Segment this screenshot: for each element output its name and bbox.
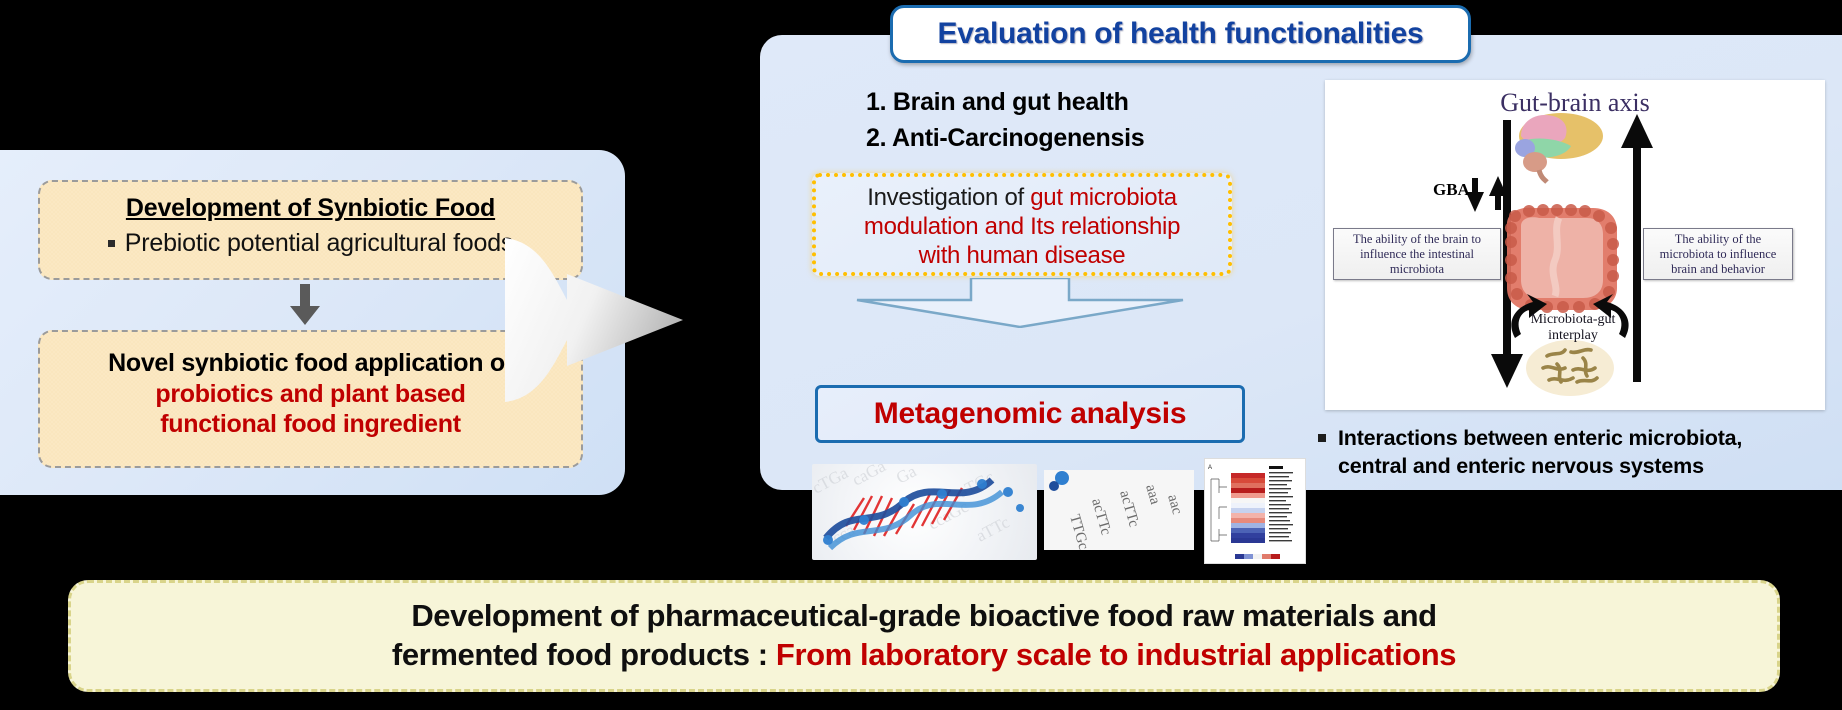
investigation-line-2: modulation and Its relationship bbox=[816, 213, 1228, 242]
investigation-line-3: with human disease bbox=[816, 242, 1228, 271]
metagenomic-analysis-label: Metagenomic analysis bbox=[874, 397, 1186, 431]
banner-line-2-prefix: fermented food products : bbox=[392, 637, 776, 672]
down-arrow-icon bbox=[289, 284, 321, 326]
banner-line-2: fermented food products : From laborator… bbox=[392, 636, 1456, 675]
page-title: Evaluation of health functionalities bbox=[938, 17, 1424, 51]
investigation-line-1-highlight: gut microbiota bbox=[1030, 184, 1177, 211]
dna-sequence-thumbnail: acTTc acTTc aaa TTGc aac bbox=[1044, 470, 1194, 550]
svg-text:caGa: caGa bbox=[849, 464, 889, 490]
square-bullet-icon bbox=[108, 240, 115, 247]
investigation-line-1-prefix: Investigation of bbox=[867, 184, 1030, 211]
metagenomic-analysis-box: Metagenomic analysis bbox=[815, 385, 1245, 443]
gba-caption-left: The ability of the brain to influence th… bbox=[1333, 228, 1501, 280]
bottom-banner: Development of pharmaceutical-grade bioa… bbox=[68, 580, 1780, 692]
novel-box-line-2: probiotics and plant based bbox=[40, 379, 581, 410]
novel-box-line-3: functional food ingredient bbox=[40, 409, 581, 440]
enteric-line-2: central and enteric nervous systems bbox=[1338, 454, 1704, 478]
numbered-item-2: 2. Anti-Carcinogenensis bbox=[866, 124, 1144, 153]
svg-text:A: A bbox=[1208, 465, 1212, 471]
enteric-interactions-bullet: Interactions between enteric microbiota,… bbox=[1318, 425, 1828, 480]
dna-helix-thumbnail: cTGa caGa Ga ccaGc aTGc cca aTTc bbox=[812, 464, 1037, 560]
intestine-icon bbox=[1505, 204, 1619, 313]
development-of-synbiotic-food-box: Development of Synbiotic Food Prebiotic … bbox=[38, 180, 583, 280]
development-box-title: Development of Synbiotic Food bbox=[40, 194, 581, 223]
novel-synbiotic-food-box: Novel synbiotic food application of prob… bbox=[38, 330, 583, 468]
banner-line-1: Development of pharmaceutical-grade bioa… bbox=[411, 597, 1436, 636]
brain-icon bbox=[1515, 113, 1603, 182]
enteric-interactions-text: Interactions between enteric microbiota,… bbox=[1338, 425, 1742, 480]
enteric-line-1: Interactions between enteric microbiota, bbox=[1338, 426, 1742, 450]
microbiota-gut-interplay-label: Microbiota-gut interplay bbox=[1521, 312, 1625, 343]
right-chevron-arrow-icon bbox=[505, 230, 685, 410]
investigation-box: Investigation of gut microbiota modulati… bbox=[812, 173, 1232, 276]
development-box-bullet-row: Prebiotic potential agricultural foods bbox=[40, 229, 581, 258]
novel-box-line-1: Novel synbiotic food application of bbox=[40, 348, 581, 379]
investigation-line-1: Investigation of gut microbiota bbox=[816, 184, 1228, 213]
banner-line-2-highlight: From laboratory scale to industrial appl… bbox=[776, 637, 1456, 672]
heatmap-dendrogram-thumbnail: A bbox=[1204, 458, 1306, 564]
development-box-bullet-label: Prebiotic potential agricultural foods bbox=[125, 229, 513, 258]
gut-brain-axis-figure: Gut-brain axis bbox=[1325, 80, 1825, 410]
svg-text:aTTc: aTTc bbox=[973, 512, 1013, 545]
svg-text:cTGa: cTGa bbox=[812, 464, 852, 498]
thumbnail-strip: cTGa caGa Ga ccaGc aTGc cca aTTc bbox=[812, 462, 1232, 562]
bacteria-icon bbox=[1526, 340, 1614, 396]
svg-text:Ga: Ga bbox=[893, 464, 920, 488]
gba-caption-right: The ability of the microbiota to influen… bbox=[1643, 228, 1793, 280]
gba-arrows-icon bbox=[1466, 176, 1507, 212]
evaluation-title-box: Evaluation of health functionalities bbox=[890, 5, 1471, 63]
numbered-item-1: 1. Brain and gut health bbox=[866, 88, 1129, 117]
square-bullet-icon bbox=[1318, 434, 1326, 442]
wide-down-arrow-icon bbox=[845, 278, 1195, 328]
gba-abbreviation-label: GBA bbox=[1433, 180, 1470, 200]
